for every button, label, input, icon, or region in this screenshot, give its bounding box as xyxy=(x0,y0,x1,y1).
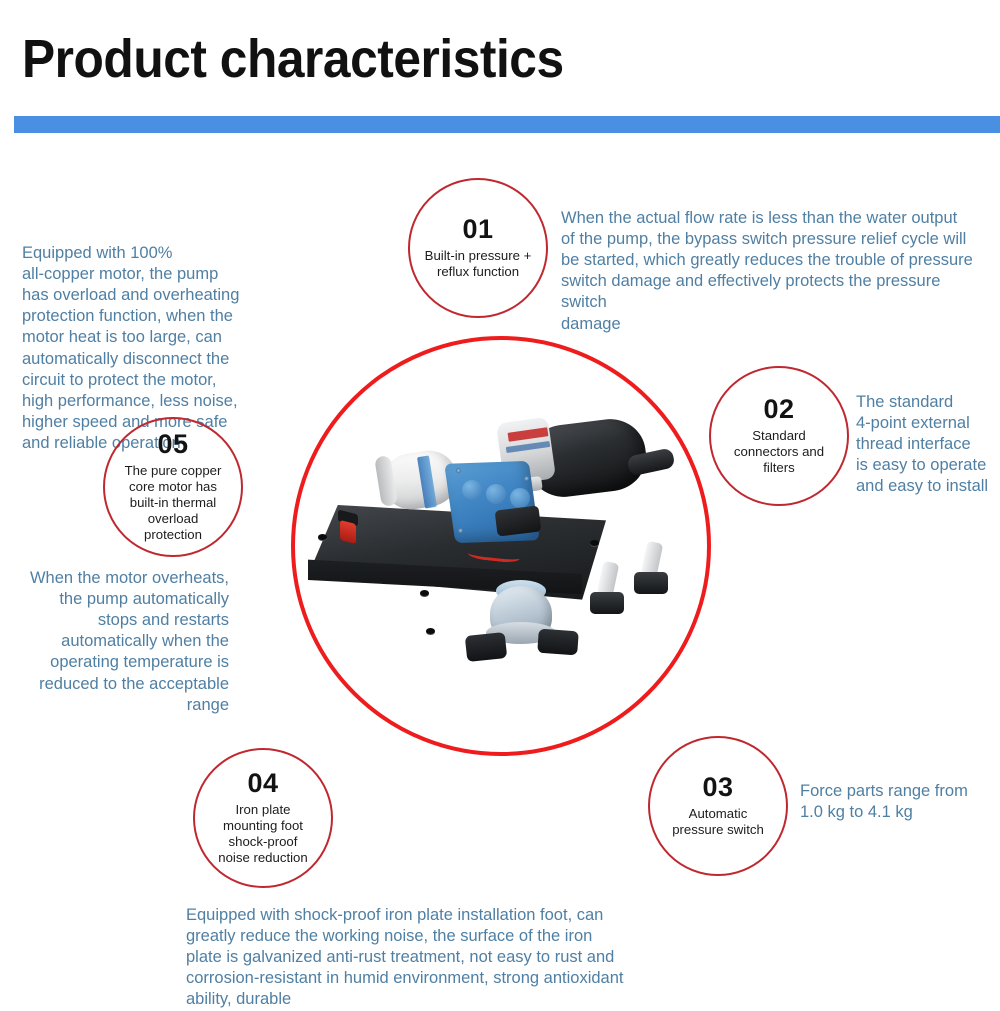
pump-lobe xyxy=(510,488,530,508)
strainer-port-left xyxy=(465,632,507,662)
page-title: Product characteristics xyxy=(22,32,564,86)
plate-hole xyxy=(420,590,429,596)
callout-number-04: 04 xyxy=(247,770,278,797)
plate-hole xyxy=(590,540,599,546)
pump-lobe xyxy=(462,480,482,500)
callout-number-05: 05 xyxy=(157,431,188,458)
callout-caption-02: Standard connectors and filters xyxy=(728,428,830,476)
pump-screw xyxy=(458,528,463,533)
callout-description-05-below: When the motor overheats, the pump autom… xyxy=(14,568,229,716)
callout-description-03: Force parts range from 1.0 kg to 4.1 kg xyxy=(800,781,1000,823)
pump-screw xyxy=(456,468,461,473)
callout-number-01: 01 xyxy=(462,216,493,243)
strainer-port-right xyxy=(537,629,579,656)
callout-description-01: When the actual flow rate is less than t… xyxy=(561,208,981,335)
callout-caption-04: Iron plate mounting foot shock-proof noi… xyxy=(212,802,313,865)
callout-circle-02[interactable]: 02 Standard connectors and filters xyxy=(709,366,849,506)
callout-circle-01[interactable]: 01 Built-in pressure + reflux function xyxy=(408,178,548,318)
terminal-red xyxy=(340,520,356,544)
product-image xyxy=(300,400,710,690)
callout-description-04: Equipped with shock-proof iron plate ins… xyxy=(186,905,666,1011)
plate-hole xyxy=(318,534,327,540)
callout-circle-05[interactable]: 05 The pure copper core motor has built-… xyxy=(103,417,243,557)
callout-caption-01: Built-in pressure + reflux function xyxy=(419,248,538,280)
callout-number-03: 03 xyxy=(702,774,733,801)
callout-caption-03: Automatic pressure switch xyxy=(666,806,770,838)
pump-screw xyxy=(524,476,529,481)
pump-switch-cover xyxy=(495,505,542,536)
fitting-nut xyxy=(634,572,668,594)
callout-caption-05: The pure copper core motor has built-in … xyxy=(119,463,228,542)
header-accent-bar xyxy=(14,116,1000,133)
infographic-page: Product characteristics xyxy=(0,0,1000,1000)
callout-circle-04[interactable]: 04 Iron plate mounting foot shock-proof … xyxy=(193,748,333,888)
fitting-nut xyxy=(590,592,624,614)
callout-circle-03[interactable]: 03 Automatic pressure switch xyxy=(648,736,788,876)
callout-number-02: 02 xyxy=(763,396,794,423)
plate-hole xyxy=(426,628,435,634)
pump-lobe xyxy=(486,484,506,504)
callout-description-02: The standard 4-point external thread int… xyxy=(856,392,1000,498)
